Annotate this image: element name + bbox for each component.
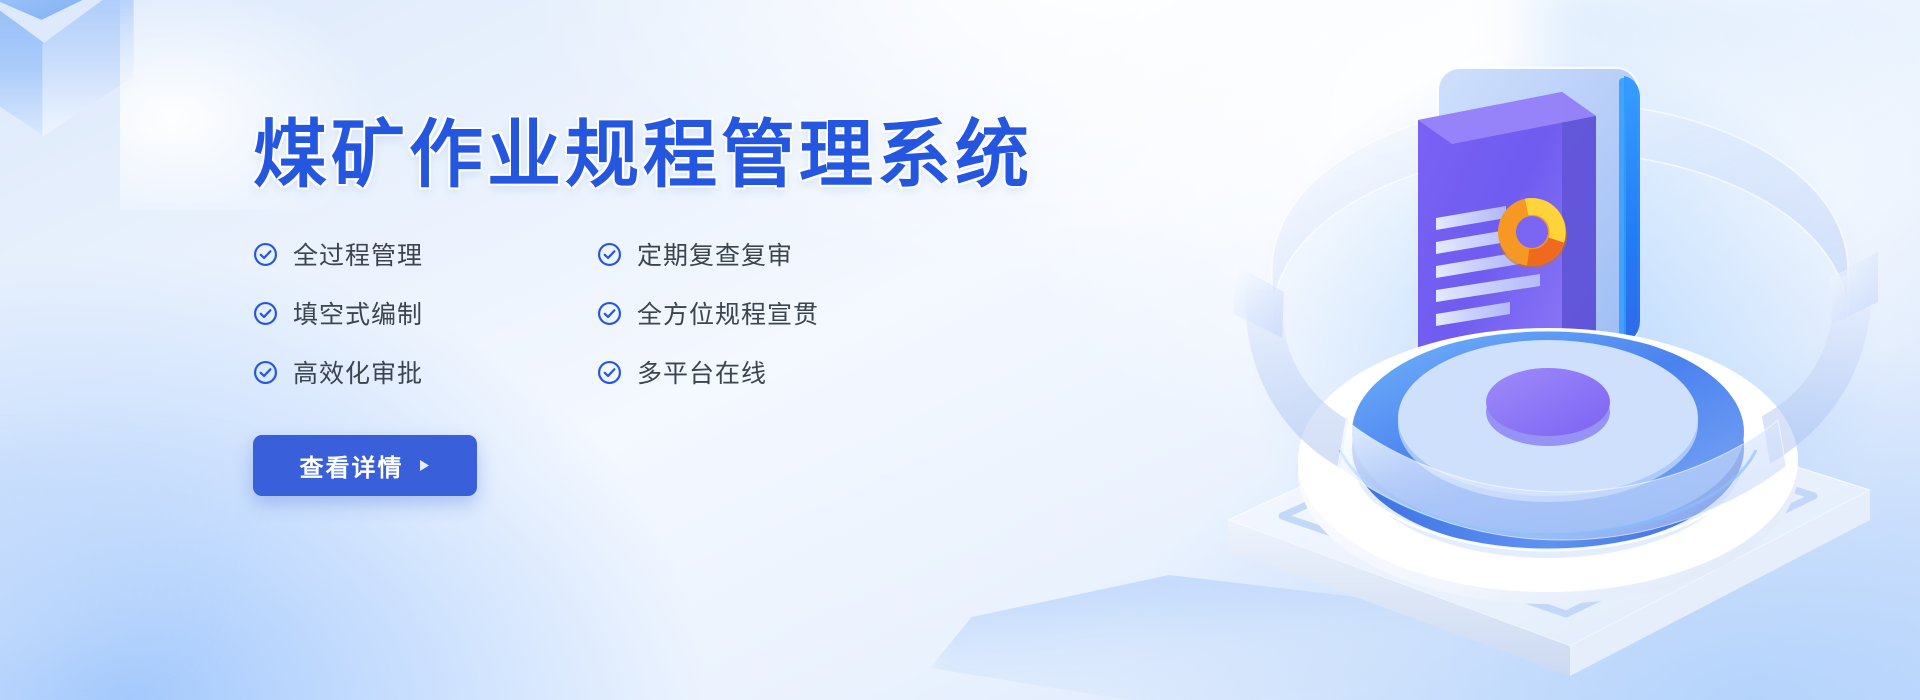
triangle-right-icon — [418, 458, 431, 473]
feature-item: 全过程管理 — [253, 236, 597, 272]
feature-label: 全方位规程宣贯 — [637, 295, 819, 331]
feature-label: 填空式编制 — [293, 295, 423, 331]
feature-item: 高效化审批 — [253, 354, 597, 390]
check-circle-icon — [597, 301, 622, 326]
corner-cube-decoration — [0, 0, 184, 172]
check-circle-icon — [597, 242, 622, 267]
feature-label: 高效化审批 — [293, 354, 423, 390]
cube-right-face — [42, 0, 134, 137]
feature-item: 多平台在线 — [597, 354, 941, 390]
feature-item: 填空式编制 — [253, 295, 597, 331]
check-circle-icon — [253, 242, 278, 267]
feature-item: 全方位规程宣贯 — [597, 295, 941, 331]
feature-list: 全过程管理 定期复查复审 填空式编制 — [253, 236, 1203, 390]
banner-content: 煤矿作业规程管理系统 全过程管理 定期复查复审 — [253, 118, 1203, 496]
check-circle-icon — [253, 360, 278, 385]
check-circle-icon — [597, 360, 622, 385]
feature-label: 全过程管理 — [293, 236, 423, 272]
page-title: 煤矿作业规程管理系统 — [253, 118, 1203, 192]
feature-label: 多平台在线 — [637, 354, 767, 390]
feature-item: 定期复查复审 — [597, 236, 941, 272]
document-analytics-3d-illustration — [1210, 20, 1910, 680]
view-details-button[interactable]: 查看详情 — [253, 435, 477, 496]
check-circle-icon — [253, 301, 278, 326]
cube-left-face — [0, 0, 46, 137]
view-details-label: 查看详情 — [300, 448, 404, 483]
cube-top-face — [0, 0, 129, 60]
hero-banner: 煤矿作业规程管理系统 全过程管理 定期复查复审 — [0, 0, 1920, 700]
feature-label: 定期复查复审 — [637, 236, 793, 272]
